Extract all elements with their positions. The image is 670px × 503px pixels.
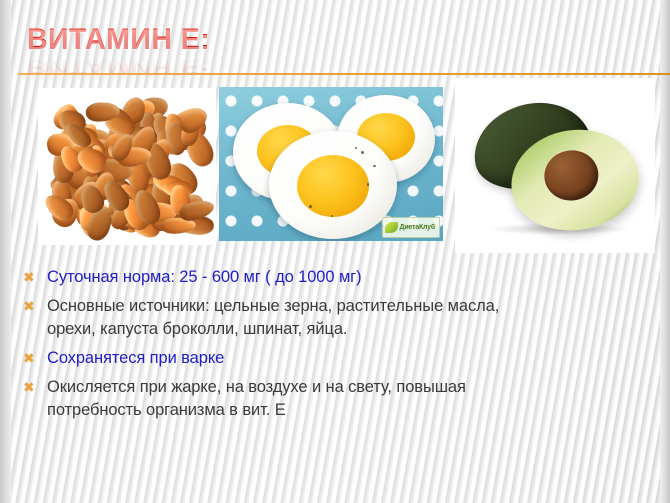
almonds-photo	[38, 88, 216, 245]
bullet-list: ✖Суточная норма: 25 - 600 мг ( до 1000 м…	[20, 266, 654, 428]
pepper-speck	[309, 205, 312, 208]
leaf-icon	[385, 222, 398, 233]
bullet-star-icon: ✖	[20, 347, 47, 370]
watermark-label: ДиетаКлуб	[400, 224, 435, 231]
boiled-eggs-photo: ДиетаКлуб	[219, 87, 443, 241]
title-divider-rule	[18, 73, 670, 75]
slide: ВИТАМИН Е: ВИТАМИН Е:	[0, 0, 670, 503]
pepper-speck	[361, 151, 364, 154]
bullet-item: ✖Окисляется при жарке, на воздухе и на с…	[20, 376, 654, 422]
bullet-item: ✖Основные источники: цельные зерна, раст…	[20, 295, 654, 341]
bullet-text: Окисляется при жарке, на воздухе и на св…	[47, 376, 466, 422]
avocado-pit	[541, 147, 601, 204]
bullet-line: потребность организма в вит. Е	[47, 399, 466, 422]
page-title: ВИТАМИН Е:	[27, 24, 426, 56]
dietaclub-watermark: ДиетаКлуб	[382, 217, 440, 238]
bullet-star-icon: ✖	[20, 295, 47, 318]
bullet-line: Сохранятеся при варке	[47, 347, 224, 370]
bullet-item: ✖Суточная норма: 25 - 600 мг ( до 1000 м…	[20, 266, 654, 289]
pepper-speck	[355, 147, 357, 149]
pepper-speck	[373, 165, 376, 167]
bullet-star-icon: ✖	[20, 266, 47, 289]
photo-row: ДиетаКлуб	[0, 78, 670, 258]
bullet-line: Окисляется при жарке, на воздухе и на св…	[47, 376, 466, 399]
almond-pile	[38, 88, 216, 245]
bullet-line: Основные источники: цельные зерна, расти…	[47, 295, 499, 318]
avocado-photo	[455, 78, 655, 253]
bullet-line: Суточная норма: 25 - 600 мг ( до 1000 мг…	[47, 266, 362, 289]
pepper-speck	[367, 183, 369, 186]
bullet-star-icon: ✖	[20, 376, 47, 399]
egg-yolk	[297, 155, 369, 217]
bullet-item: ✖Сохранятеся при варке	[20, 347, 654, 370]
bullet-text: Суточная норма: 25 - 600 мг ( до 1000 мг…	[47, 266, 362, 289]
egg-half-front	[269, 131, 397, 239]
bullet-text: Сохранятеся при варке	[47, 347, 224, 370]
bullet-text: Основные источники: цельные зерна, расти…	[47, 295, 499, 341]
pepper-speck	[331, 215, 333, 217]
slide-title-block: ВИТАМИН Е: ВИТАМИН Е:	[27, 24, 447, 80]
bullet-line: орехи, капуста броколли, шпинат, яйца.	[47, 318, 499, 341]
